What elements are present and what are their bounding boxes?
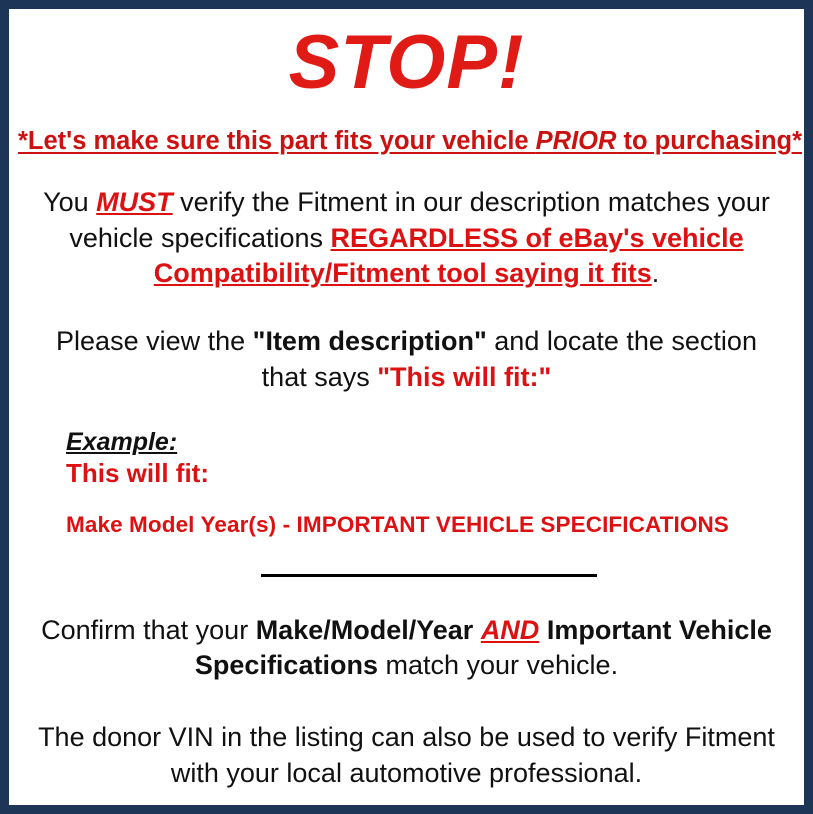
thank-you-message: Thank you for confirming Fitment!	[18, 791, 795, 814]
this-will-fit-quote: "This will fit:"	[377, 362, 551, 392]
confirm-paragraph: Confirm that your Make/Model/Year AND Im…	[18, 582, 795, 684]
tagline-text-after: to purchasing*	[616, 127, 802, 155]
example-label-row: Example:	[66, 428, 795, 457]
make-model-year-emphasis: Make/Model/Year	[256, 615, 474, 645]
tagline-text-before: *Let's make sure this part fits your veh…	[18, 127, 536, 155]
fitment-notice-card: STOP! *Let's make sure this part fits yo…	[0, 0, 813, 814]
example-label: Example:	[66, 428, 177, 457]
please-view-paragraph: Please view the "Item description" and l…	[18, 292, 795, 395]
section-divider	[261, 574, 597, 577]
tagline-emphasis-prior: PRIOR	[536, 127, 617, 155]
must-paragraph-part1: You	[43, 187, 96, 217]
divider-wrap	[18, 538, 795, 582]
stop-title: STOP!	[18, 9, 795, 101]
example-fit-heading: This will fit:	[66, 459, 795, 489]
must-emphasis: MUST	[96, 187, 173, 217]
must-verify-paragraph: You MUST verify the Fitment in our descr…	[18, 155, 795, 292]
fitment-notice-content: STOP! *Let's make sure this part fits yo…	[9, 9, 804, 805]
confirm-paragraph-part1: Confirm that your	[41, 615, 256, 645]
confirm-paragraph-part2: match your vehicle.	[378, 650, 618, 680]
item-description-emphasis: "Item description"	[253, 326, 487, 356]
and-emphasis: AND	[481, 615, 540, 645]
please-paragraph-part1: Please view the	[56, 326, 253, 356]
donor-vin-paragraph: The donor VIN in the listing can also be…	[18, 684, 795, 791]
must-paragraph-part3: .	[652, 258, 660, 288]
example-spec-line: Make Model Year(s) - IMPORTANT VEHICLE S…	[66, 512, 795, 538]
fitment-tagline: *Let's make sure this part fits your veh…	[18, 101, 795, 155]
example-block: Example: This will fit: Make Model Year(…	[18, 395, 795, 538]
